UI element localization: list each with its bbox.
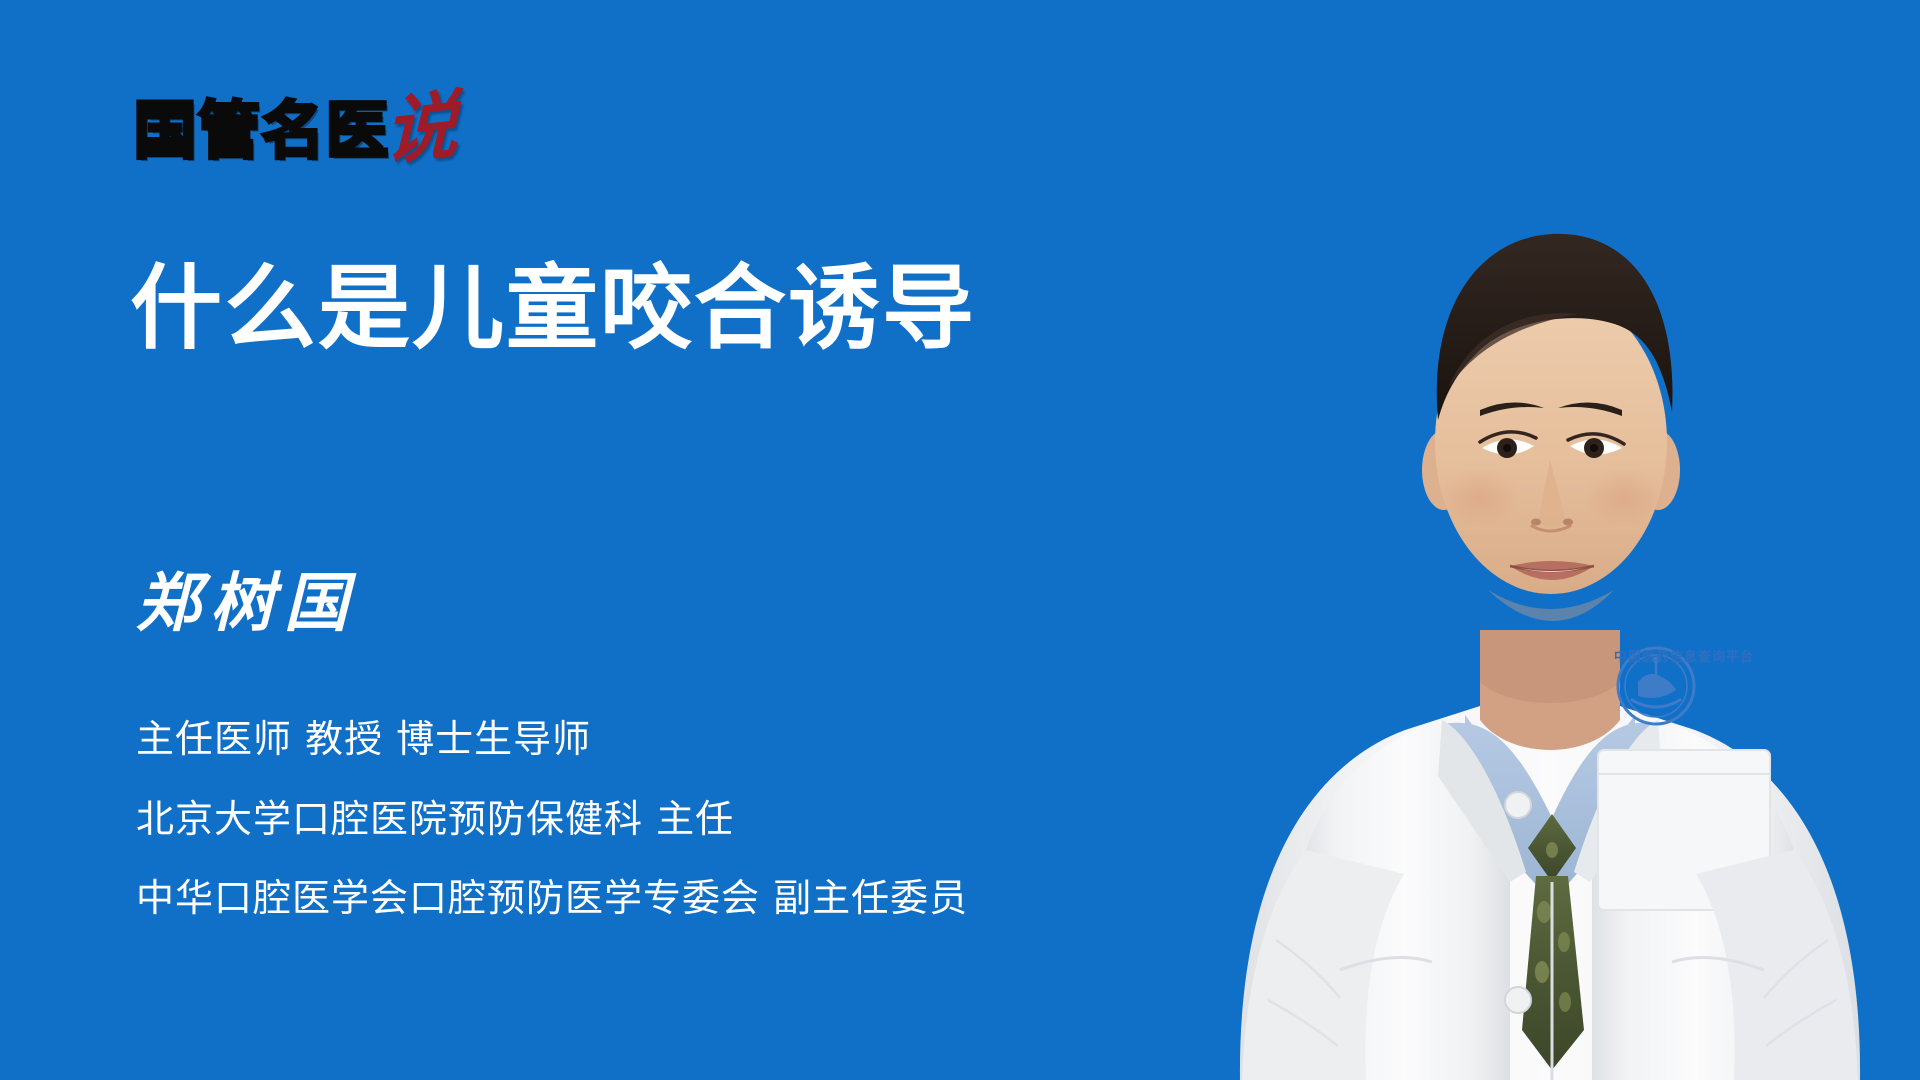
brand-logo-accent-text: 说: [384, 88, 458, 170]
slide-canvas: 中国医药信息查询平台 国管名医 说 什么是儿童咬合诱导 郑树国 主任医师 教授 …: [0, 0, 1920, 1080]
page-title: 什么是儿童咬合诱导: [130, 258, 976, 359]
neck-shadow: [1480, 630, 1620, 703]
chin-shading: [1488, 590, 1614, 621]
credential-line-1: 主任医师 教授 博士生导师: [136, 718, 968, 762]
speaker-credentials: 主任医师 教授 博士生导师 北京大学口腔医院预防保健科 主任 中华口腔医学会口腔…: [136, 718, 968, 921]
cheek-left: [1440, 468, 1520, 528]
speaker-name: 郑树国: [136, 570, 358, 637]
nostril-right: [1563, 519, 1573, 526]
cheek-right: [1584, 468, 1664, 528]
doctor-portrait: [1180, 70, 1920, 1080]
nostril-left: [1531, 519, 1541, 526]
coat-button: [1505, 987, 1531, 1013]
coat-button: [1505, 792, 1531, 818]
credential-line-2: 北京大学口腔医院预防保健科 主任: [136, 798, 968, 842]
brand-logo-main-text: 国管名医: [134, 100, 390, 162]
credential-line-3: 中华口腔医学会口腔预防医学专委会 副主任委员: [136, 877, 968, 921]
coat-badge-label: 中国医药信息查询平台: [1614, 646, 1754, 665]
brand-logo: 国管名医 说: [134, 92, 458, 162]
